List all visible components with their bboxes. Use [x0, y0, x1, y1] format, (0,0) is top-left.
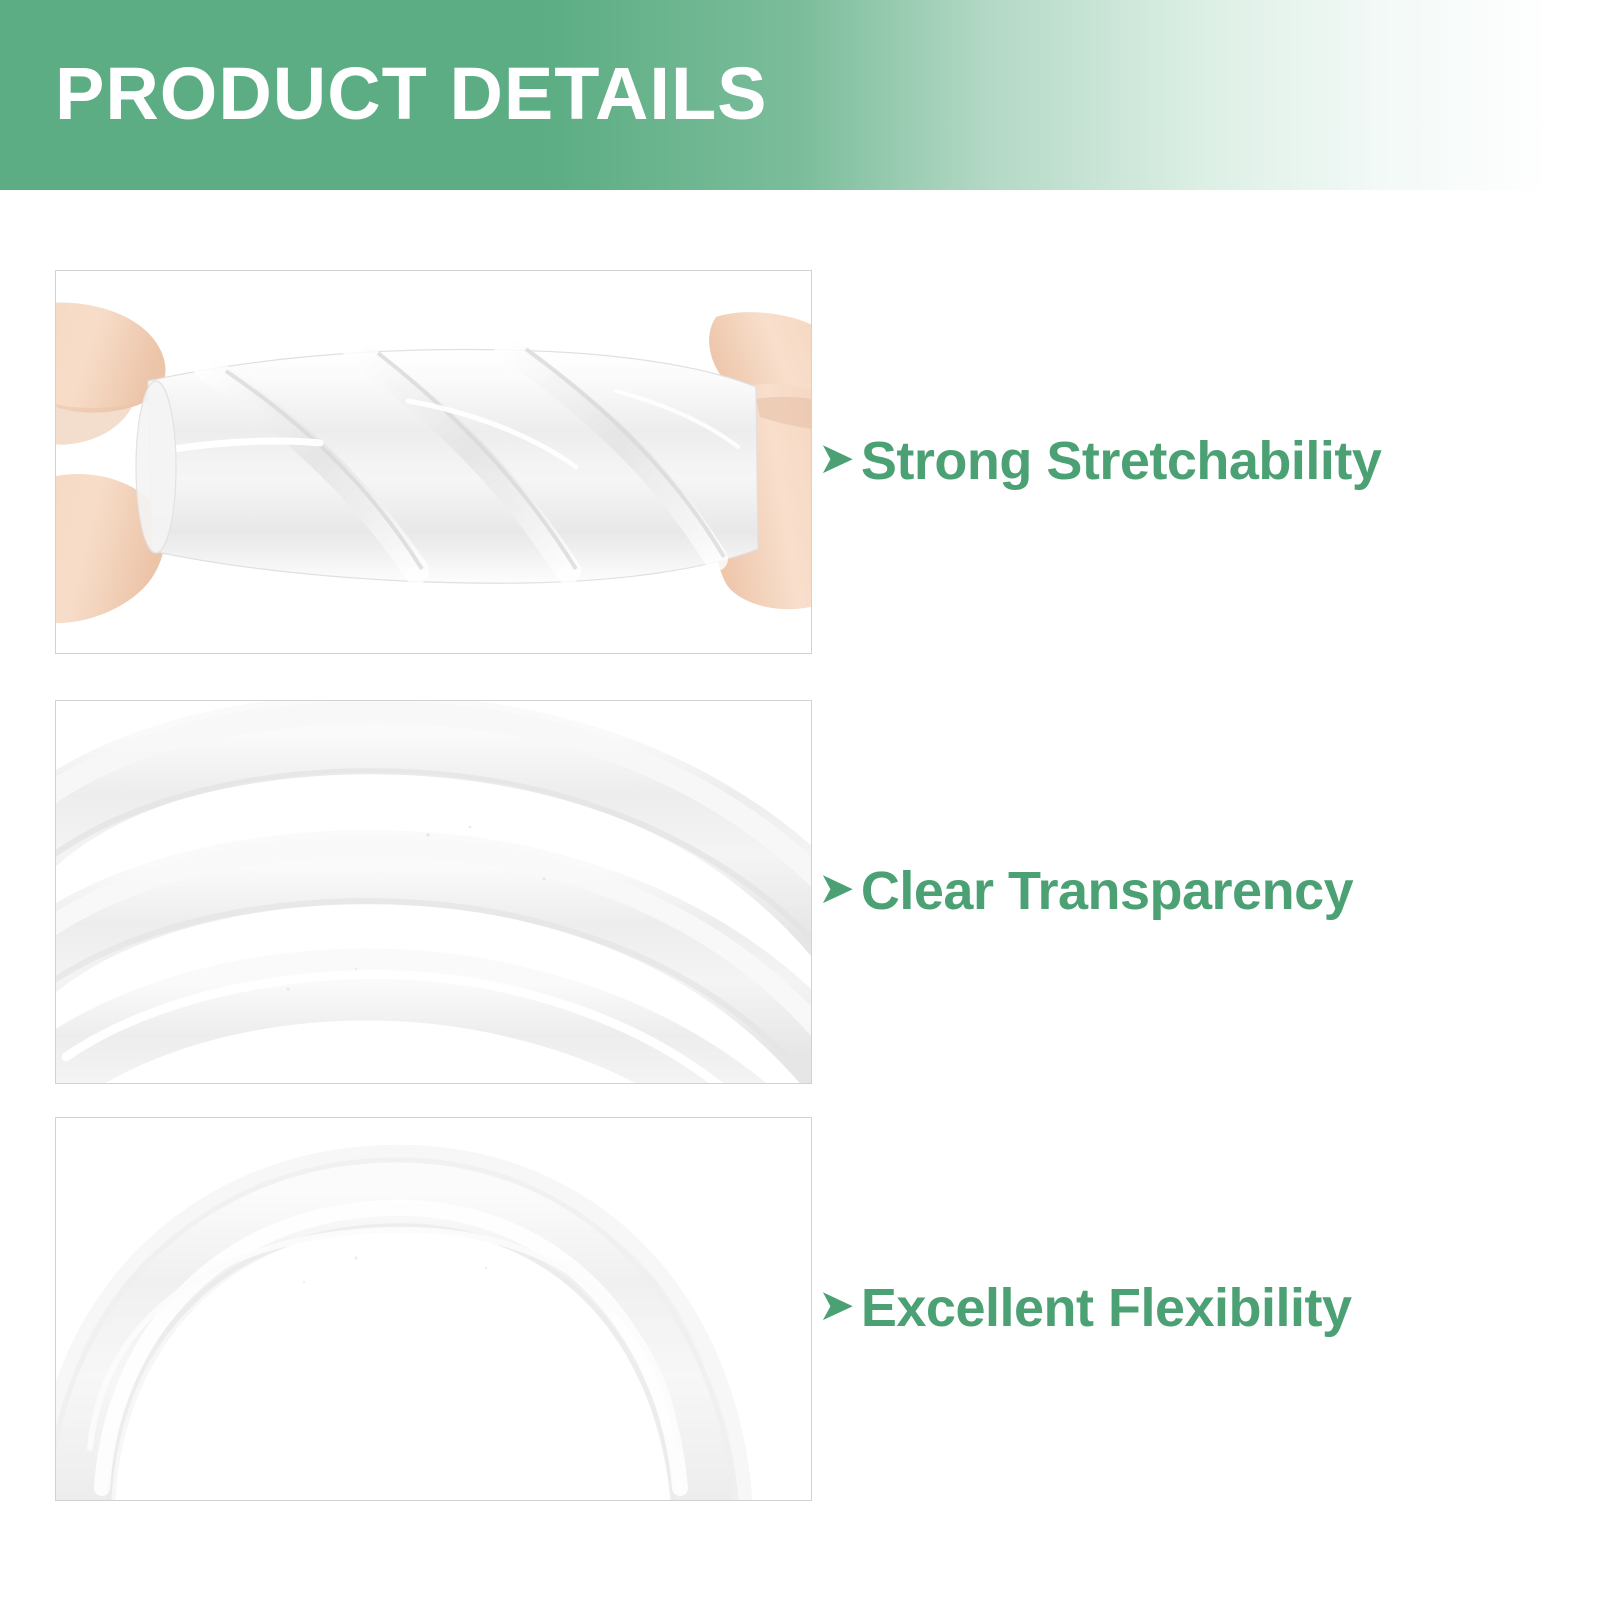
transparency-photo-graphic — [56, 701, 811, 1083]
arrow-bullet-icon: ➤ — [818, 437, 855, 481]
twisted-tube-shape — [136, 347, 758, 583]
feature-row-stretchability: ➤ Strong Stretchability — [0, 270, 1600, 654]
flexibility-photo-graphic — [56, 1118, 811, 1500]
feature-title-stretchability: Strong Stretchability — [861, 434, 1382, 488]
page-header-band: PRODUCT DETAILS — [0, 0, 1600, 190]
arrow-bullet-icon: ➤ — [818, 867, 855, 911]
page-title: PRODUCT DETAILS — [55, 50, 768, 138]
bent-tube-arch-photo — [55, 1117, 812, 1501]
coiled-clear-tubing-closeup-photo — [55, 700, 812, 1084]
arrow-bullet-icon: ➤ — [818, 1284, 855, 1328]
stretch-photo-graphic — [56, 271, 811, 653]
feature-row-flexibility: ➤ Excellent Flexibility — [0, 1117, 1600, 1501]
feature-label-flexibility: ➤ Excellent Flexibility — [818, 1117, 1352, 1499]
feature-row-transparency: ➤ Clear Transparency — [0, 700, 1600, 1084]
feature-title-flexibility: Excellent Flexibility — [861, 1281, 1352, 1335]
feature-label-stretchability: ➤ Strong Stretchability — [818, 270, 1381, 652]
hands-stretching-twisted-silicone-tube-photo — [55, 270, 812, 654]
feature-title-transparency: Clear Transparency — [861, 864, 1353, 918]
feature-label-transparency: ➤ Clear Transparency — [818, 700, 1353, 1082]
